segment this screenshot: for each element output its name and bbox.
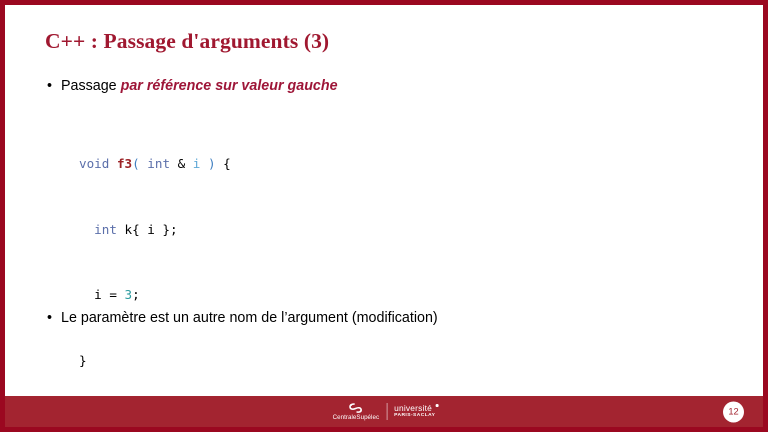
bullet-marker-icon: • [47, 309, 52, 327]
code-token-void: void [79, 156, 109, 171]
code-token-space [109, 156, 117, 171]
bullet-lead-text: Passage [61, 78, 121, 94]
logo-divider [386, 403, 387, 420]
centralesupelec-wordmark: CentraleSupélec [333, 415, 380, 421]
universite-paris-saclay-logo: université PARIS-SACLAY [394, 404, 435, 419]
code-indent [79, 222, 94, 237]
code-token-equals: = [102, 287, 125, 302]
code-token-f3-name: f3 [117, 156, 132, 171]
bullet-marker-icon: • [47, 77, 52, 95]
code-token-i: i [94, 287, 102, 302]
bullet-emphasis-text: par référence sur valeur gauche [121, 78, 338, 94]
bullet-text: Le paramètre est un autre nom de l’argum… [61, 310, 438, 326]
code-token-int: int [94, 222, 117, 237]
code-token-ampersand: & [170, 156, 193, 171]
code-token-k-decl: k{ i }; [117, 222, 178, 237]
code-token-paren-open: ( [132, 156, 140, 171]
footer-logos: CentraleSupélec université PARIS-SACLAY [333, 399, 436, 425]
code-token-semicolon: ; [132, 287, 140, 302]
code-line-f3-signature: void f3( int & i ) { [79, 156, 231, 172]
code-token-paren-close: ) [208, 156, 216, 171]
code-line-f3-close: } [79, 353, 231, 369]
universite-accent-dot-icon [436, 404, 439, 407]
code-token-space [200, 156, 208, 171]
page-title: C++ : Passage d'arguments (3) [45, 29, 329, 54]
slide-footer: CentraleSupélec université PARIS-SACLAY … [5, 396, 763, 427]
centralesupelec-logo: CentraleSupélec [333, 402, 380, 421]
paris-saclay-wordmark: PARIS-SACLAY [394, 414, 435, 419]
universite-wordmark: université [394, 404, 435, 412]
code-token-brace-close: } [79, 353, 87, 368]
code-line-i-assign: i = 3; [79, 287, 231, 303]
centralesupelec-mark-icon [347, 402, 364, 414]
code-line-int-k: int k{ i }; [79, 222, 231, 238]
code-token-literal-3: 3 [125, 287, 133, 302]
slide-body: • Passage par référence sur valeur gauch… [5, 77, 768, 95]
bullet-item-parametre: • Le paramètre est un autre nom de l’arg… [5, 309, 438, 327]
bullet-item-passage: • Passage par référence sur valeur gauch… [5, 77, 768, 95]
code-token-int: int [147, 156, 170, 171]
page-number-badge: 12 [723, 401, 744, 422]
code-listing: void f3( int & i ) { int k{ i }; i = 3; … [79, 107, 231, 432]
code-indent [79, 287, 94, 302]
code-token-brace-open: { [216, 156, 231, 171]
slide: C++ : Passage d'arguments (3) • Passage … [0, 0, 768, 432]
